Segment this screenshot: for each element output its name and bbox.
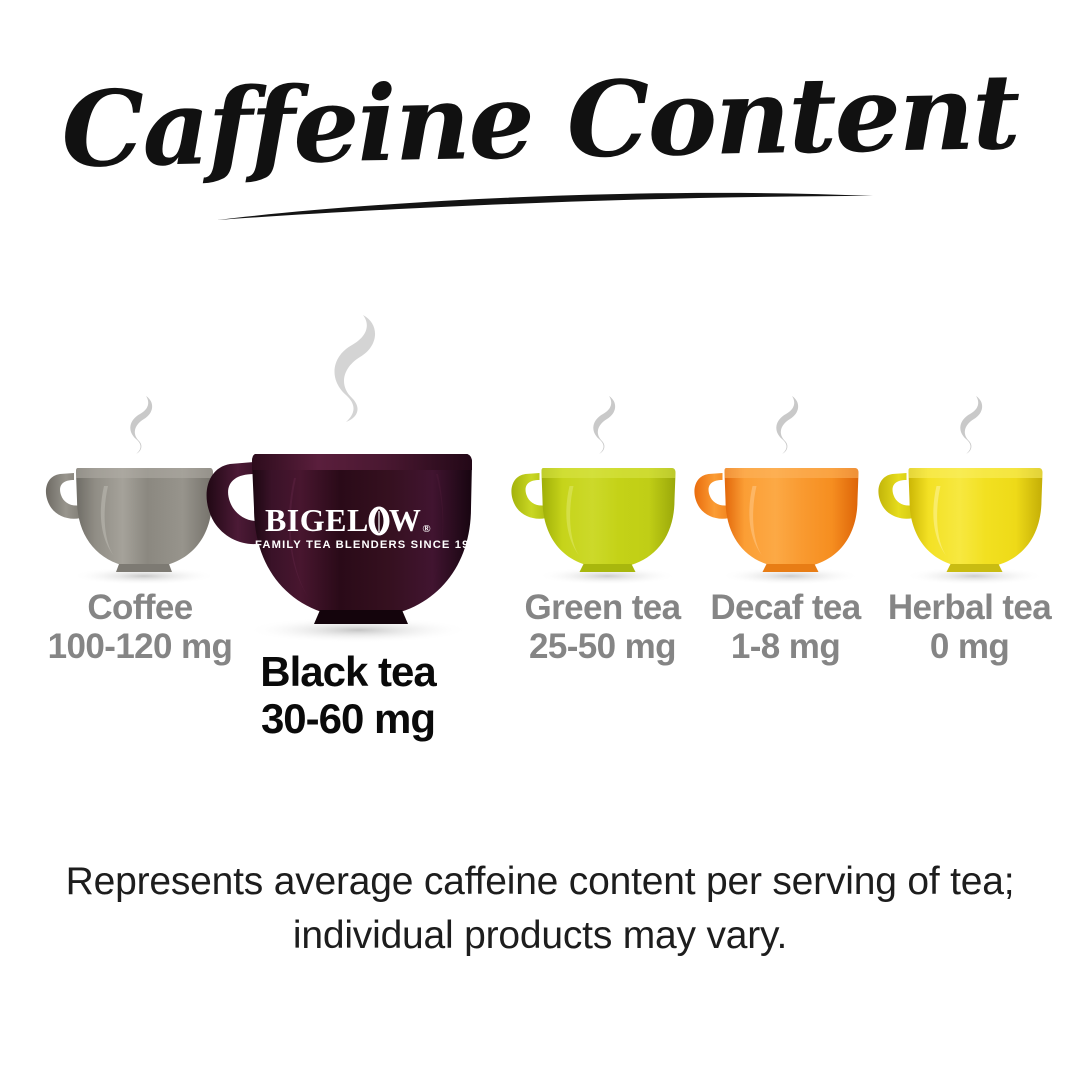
cup-label-black-tea: Black tea 30-60 mg xyxy=(260,648,435,742)
green-tea-cup-icon xyxy=(505,452,700,586)
disclaimer-note: Represents average caffeine content per … xyxy=(40,855,1040,963)
caffeine-content-infographic: Caffeine Content xyxy=(0,0,1080,1080)
cup-amount-decaf-tea: 1-8 mg xyxy=(710,627,860,666)
cup-name-decaf-tea: Decaf tea xyxy=(710,588,860,627)
steam-icon xyxy=(952,394,988,456)
cup-amount-black-tea: 30-60 mg xyxy=(260,695,435,742)
herbal-tea-cup-icon xyxy=(872,452,1067,586)
cup-label-green-tea: Green tea 25-50 mg xyxy=(524,588,680,666)
cup-amount-herbal-tea: 0 mg xyxy=(888,627,1051,666)
cup-label-herbal-tea: Herbal tea 0 mg xyxy=(888,588,1051,666)
steam-icon xyxy=(585,394,621,456)
steam-icon xyxy=(323,312,385,424)
steam-icon xyxy=(768,394,804,456)
steam-icon xyxy=(122,394,158,456)
title-block: Caffeine Content xyxy=(0,62,1080,232)
page-title: Caffeine Content xyxy=(0,52,1080,191)
black-tea-cup-icon xyxy=(198,428,498,644)
decaf-tea-cup-icon xyxy=(688,452,883,586)
cup-row: Coffee 100-120 mg xyxy=(0,300,1080,770)
cup-label-decaf-tea: Decaf tea 1-8 mg xyxy=(710,588,860,666)
cup-name-black-tea: Black tea xyxy=(260,648,435,695)
title-underline-swoosh-icon xyxy=(215,174,875,232)
cup-name-herbal-tea: Herbal tea xyxy=(888,588,1051,627)
cup-amount-green-tea: 25-50 mg xyxy=(524,627,680,666)
disclaimer-line-2: individual products may vary. xyxy=(40,909,1040,963)
cup-name-green-tea: Green tea xyxy=(524,588,680,627)
disclaimer-line-1: Represents average caffeine content per … xyxy=(40,855,1040,909)
